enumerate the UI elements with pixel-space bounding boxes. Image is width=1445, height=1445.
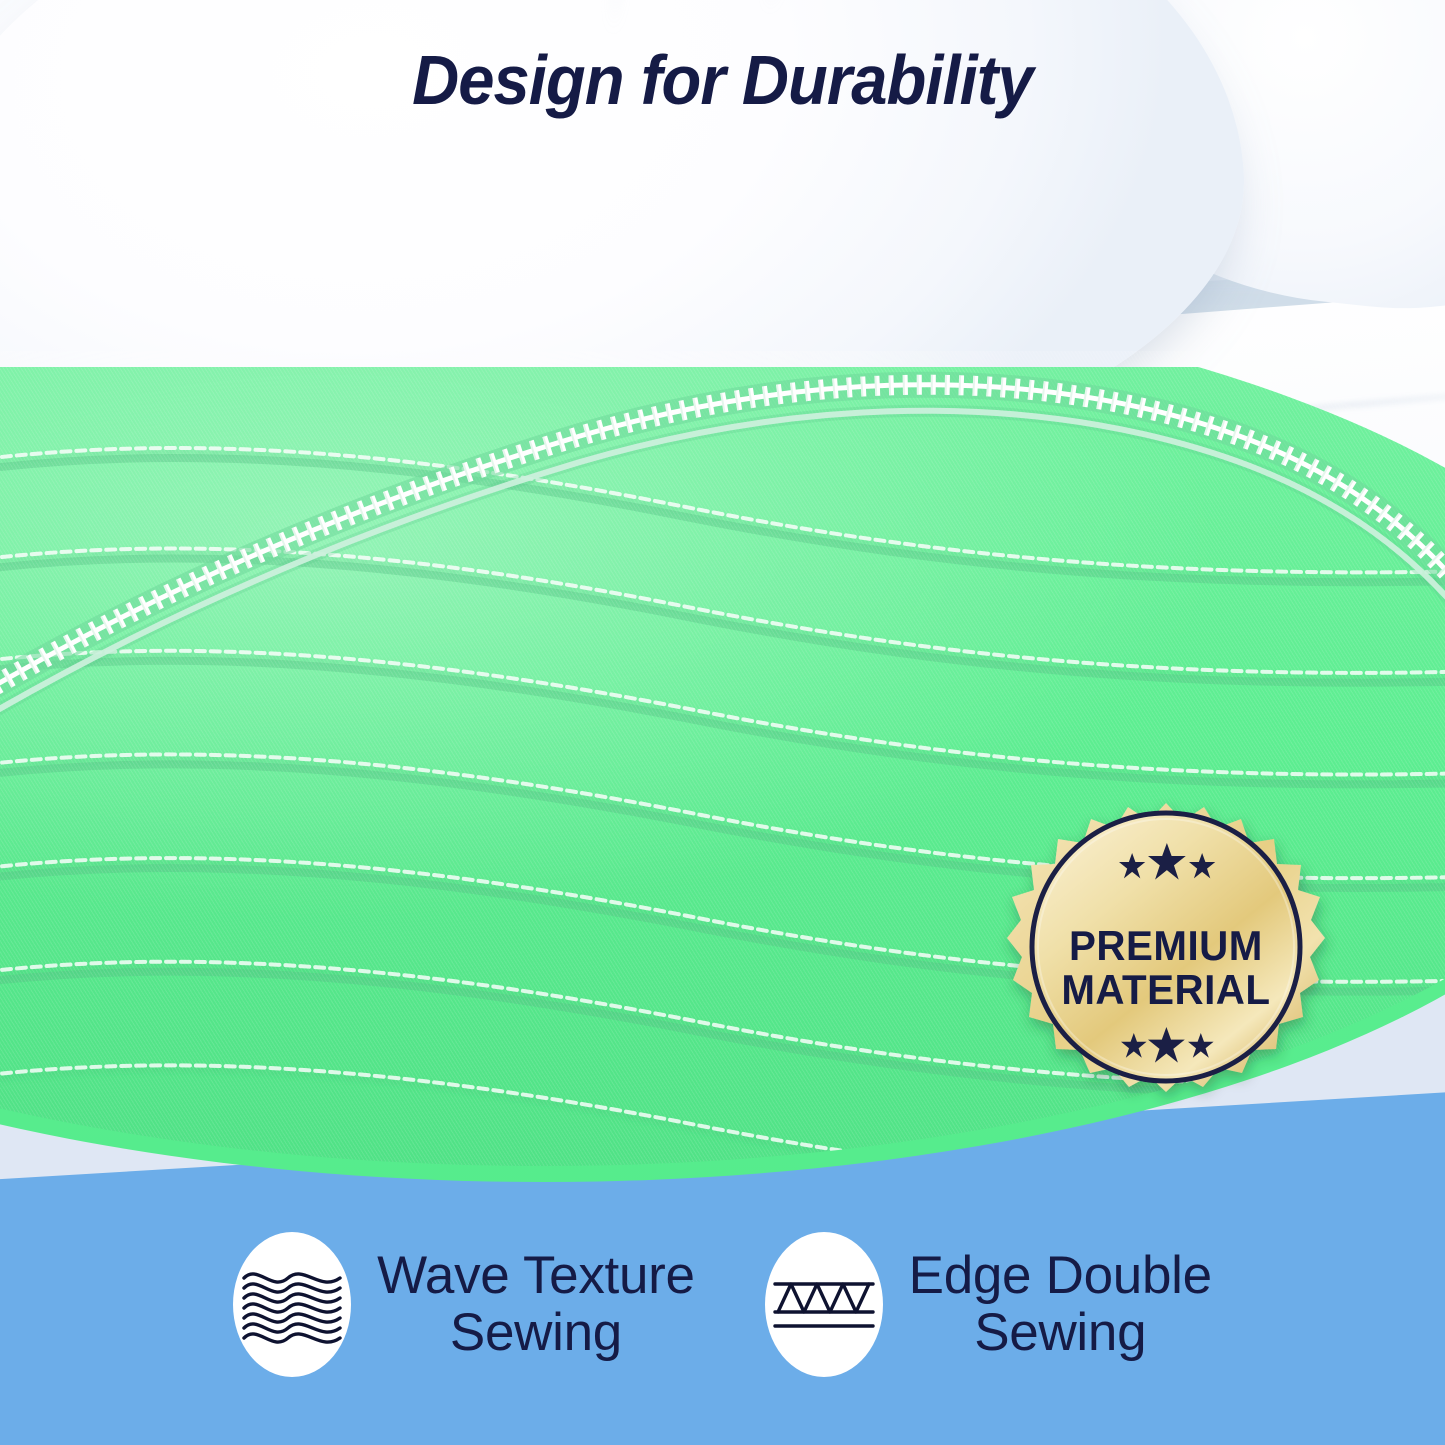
- page-title: Design for Durability: [51, 40, 1395, 120]
- product-photo-scene: [0, 0, 1445, 1445]
- wave-texture-icon: [233, 1232, 351, 1377]
- feature-item-edge-double: Edge Double Sewing: [765, 1232, 1212, 1377]
- zigzag-overlock-edge-stitch: [0, 0, 1445, 1445]
- feature-label: Edge Double Sewing: [909, 1248, 1212, 1361]
- badge-graphic: [1007, 795, 1325, 1140]
- edge-double-stitch-icon: [765, 1232, 883, 1377]
- feature-label: Wave Texture Sewing: [377, 1248, 694, 1361]
- feature-list: Wave Texture Sewing Edge Double Sewing: [0, 1232, 1445, 1377]
- feature-item-wave-texture: Wave Texture Sewing: [233, 1232, 694, 1377]
- premium-material-badge: PREMIUM MATERIAL: [1007, 795, 1325, 1140]
- product-marketing-image: Design for Durability: [0, 0, 1445, 1445]
